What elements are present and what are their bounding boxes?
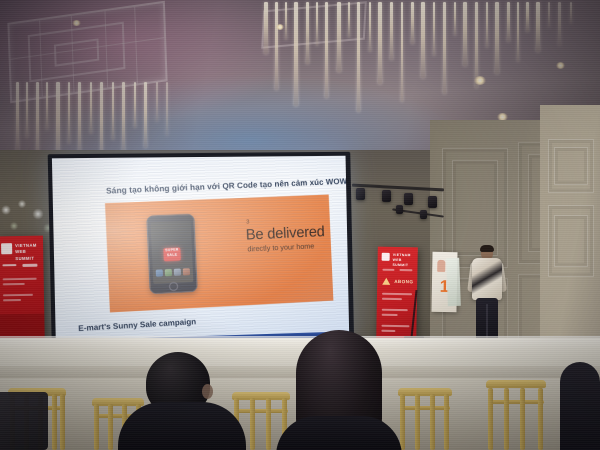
audience-member-far-right <box>560 362 600 450</box>
banner-left-title: VIETNAM WEB SUMMIT <box>15 243 41 262</box>
sale-app-icon: SUPER SALE <box>163 247 181 261</box>
dock-app-icon <box>156 269 163 276</box>
slide-title: Sáng tạo không giới hạn với QR Code tạo … <box>106 177 343 196</box>
chair-back <box>398 388 452 450</box>
sale-app-label: SUPER SALE <box>163 247 181 258</box>
phone-screen: SUPER SALE <box>151 221 194 284</box>
phone-mockup: SUPER SALE <box>146 214 198 294</box>
equipment-case <box>0 392 48 450</box>
slide-orange-panel: SUPER SALE 3 Be delivered directly to yo… <box>105 195 333 313</box>
stage-spotlight-icon <box>404 193 413 205</box>
audience-member-right <box>278 330 400 450</box>
flipchart-board <box>446 258 461 306</box>
audience-shoulders <box>118 402 246 450</box>
audience-ear <box>202 384 213 399</box>
conference-hall-photo: Sáng tạo không giới hạn với QR Code tạo … <box>0 0 600 450</box>
speaker-hair <box>480 245 494 252</box>
slide-subhead: directly to your home <box>247 241 314 253</box>
phone-dock <box>156 268 190 277</box>
stage-spotlight-icon <box>356 188 365 200</box>
slide-surface: Sáng tạo không giới hạn với QR Code tạo … <box>52 156 349 342</box>
stage-spotlight-icon <box>428 196 437 208</box>
stage-spotlight-icon <box>420 210 427 219</box>
speaker-jacket <box>472 258 502 300</box>
projection-screen[interactable]: Sáng tạo không giới hạn với QR Code tạo … <box>48 152 354 354</box>
vws-logo-icon <box>382 253 390 261</box>
speaker-presenter <box>470 246 504 344</box>
audience-member-left <box>118 352 246 450</box>
dock-app-icon <box>183 268 190 275</box>
banner-right-sponsor: ABONG <box>394 279 413 284</box>
vws-logo-icon <box>1 243 12 254</box>
stage-spotlight-icon <box>382 190 391 202</box>
dock-app-icon <box>165 269 172 276</box>
chair-back <box>486 380 546 450</box>
audience-shoulders <box>276 416 402 450</box>
poster-figure <box>437 260 445 272</box>
dock-app-icon <box>174 269 181 276</box>
speaker-leg-gap <box>486 304 488 338</box>
banner-right-title: VIETNAM WEB SUMMIT <box>392 253 414 269</box>
slide-step-number: 3 <box>246 219 250 225</box>
stage-spotlight-icon <box>396 205 403 214</box>
slide-footer: E-mart's Sunny Sale campaign <box>78 311 298 333</box>
phone-home-button-icon <box>169 281 178 290</box>
